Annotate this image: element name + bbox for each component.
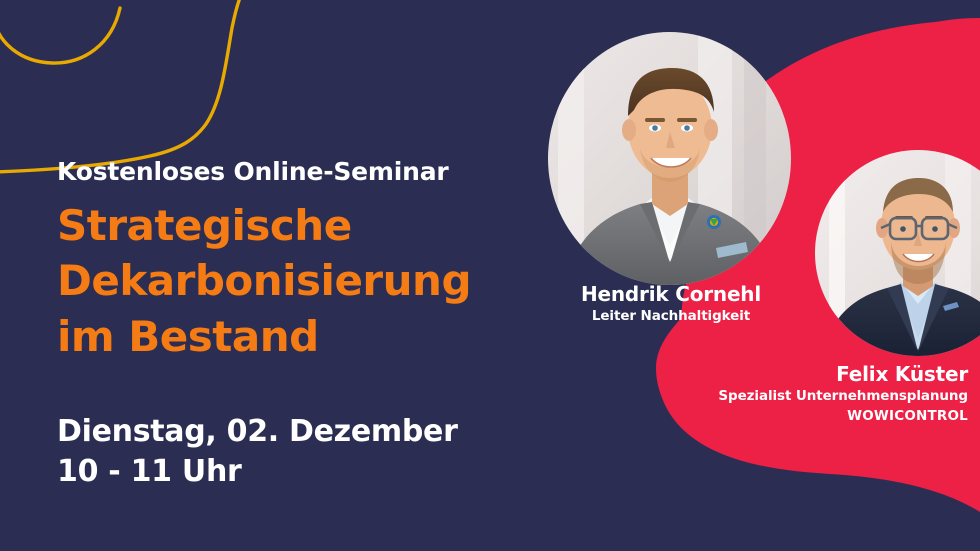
title-line-3: im Bestand xyxy=(57,309,527,365)
seminar-promo-banner: Kostenloses Online-Seminar Strategische … xyxy=(0,0,980,551)
avatar-hendrik-cornehl xyxy=(548,32,791,285)
speaker-name: Hendrik Cornehl xyxy=(560,282,782,307)
speaker-name: Felix Küster xyxy=(700,362,968,387)
speaker-role: Leiter Nachhaltigkeit xyxy=(560,307,782,327)
speaker-role: Spezialist Unternehmensplanung xyxy=(700,387,968,407)
headline-column: Kostenloses Online-Seminar Strategische … xyxy=(57,158,527,365)
event-date: Dienstag, 02. Dezember xyxy=(57,412,458,452)
speaker-caption-felix: Felix Küster Spezialist Unternehmensplan… xyxy=(700,362,968,426)
speaker-caption-hendrik: Hendrik Cornehl Leiter Nachhaltigkeit xyxy=(560,282,782,327)
event-time: 10 - 11 Uhr xyxy=(57,452,458,492)
page-title: Strategische Dekarbonisierung im Bestand xyxy=(57,198,527,366)
event-datetime: Dienstag, 02. Dezember 10 - 11 Uhr xyxy=(57,412,458,491)
title-line-1: Strategische xyxy=(57,198,527,254)
kicker-text: Kostenloses Online-Seminar xyxy=(57,158,527,186)
title-line-2: Dekarbonisierung xyxy=(57,253,527,309)
avatar-felix-kuester xyxy=(815,150,980,356)
speaker-org: WOWICONTROL xyxy=(700,407,968,427)
